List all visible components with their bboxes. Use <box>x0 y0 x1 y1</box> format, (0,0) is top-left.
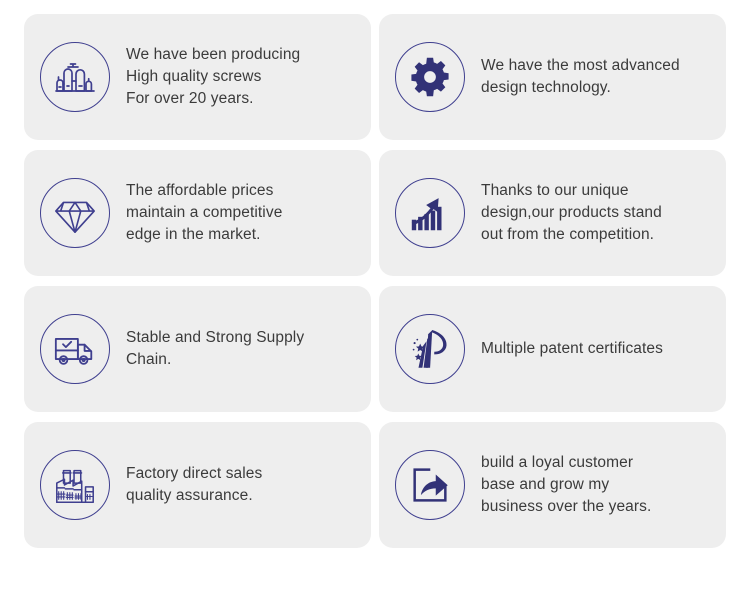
feature-card[interactable]: Multiple patent certificates <box>379 286 726 412</box>
oil-refinery-icon <box>40 42 110 112</box>
feature-text: Stable and Strong Supply Chain. <box>126 327 357 371</box>
factory-icon <box>40 450 110 520</box>
feature-text: Factory direct sales quality assurance. <box>126 463 357 507</box>
feature-card[interactable]: build a loyal customer base and grow my … <box>379 422 726 548</box>
gear-icon <box>395 42 465 112</box>
feature-text: We have the most advanced design technol… <box>481 55 712 99</box>
delivery-truck-check-icon <box>40 314 110 384</box>
feature-card[interactable]: We have the most advanced design technol… <box>379 14 726 140</box>
feature-card[interactable]: We have been producing High quality scre… <box>24 14 371 140</box>
patent-p-icon <box>395 314 465 384</box>
feature-card[interactable]: The affordable prices maintain a competi… <box>24 150 371 276</box>
feature-text: The affordable prices maintain a competi… <box>126 180 357 246</box>
feature-card[interactable]: Factory direct sales quality assurance. <box>24 422 371 548</box>
share-arrow-icon <box>395 450 465 520</box>
feature-text: We have been producing High quality scre… <box>126 44 357 110</box>
feature-text: build a loyal customer base and grow my … <box>481 452 712 518</box>
diamond-icon <box>40 178 110 248</box>
feature-card[interactable]: Thanks to our unique design,our products… <box>379 150 726 276</box>
growth-chart-icon <box>395 178 465 248</box>
feature-card[interactable]: Stable and Strong Supply Chain. <box>24 286 371 412</box>
feature-text: Thanks to our unique design,our products… <box>481 180 712 246</box>
feature-grid: We have been producing High quality scre… <box>0 0 750 594</box>
feature-text: Multiple patent certificates <box>481 338 712 360</box>
